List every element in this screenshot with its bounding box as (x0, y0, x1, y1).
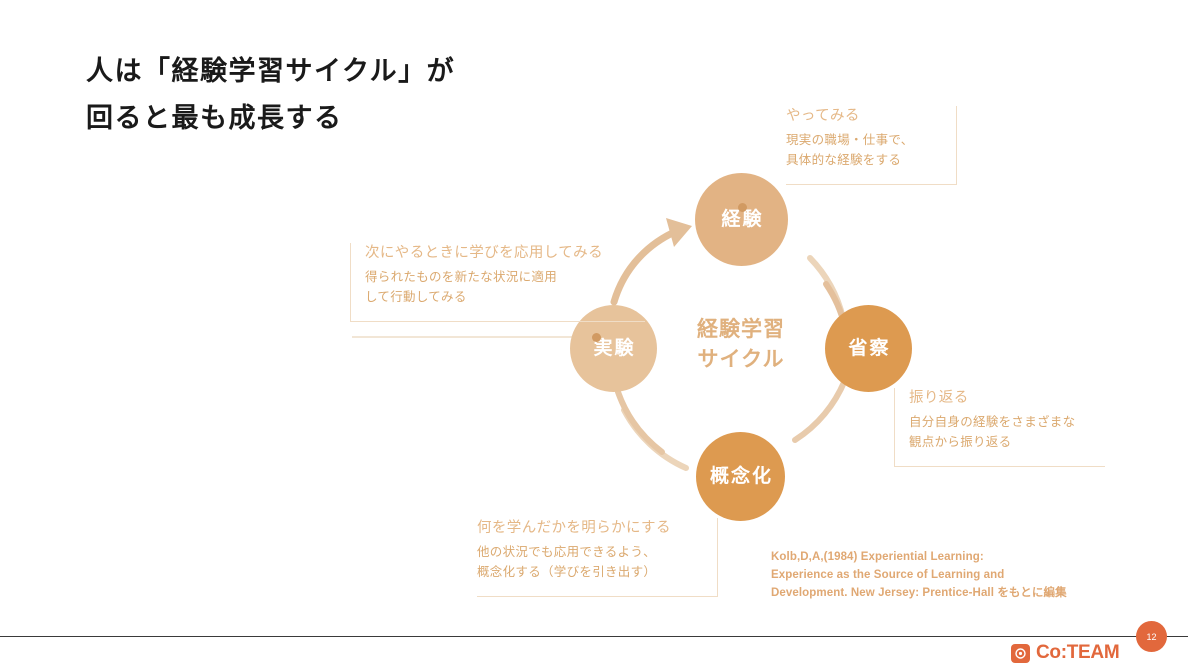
annotation-experience-body: 現実の職場・仕事で、 具体的な経験をする (786, 130, 944, 171)
arc-conceptualization-to-experiment-2 (618, 392, 662, 452)
node-conceptualization-label: 概念化 (708, 467, 773, 486)
annotation-experiment-body-line1: 得られたものを新たな状況に適用 (365, 267, 645, 287)
annotation-reflection-body-line2: 観点から振り返る (909, 432, 1105, 452)
annotation-conceptualization-body: 他の状況でも応用できるよう、 概念化する（学びを引き出す） (477, 542, 705, 583)
node-conceptualization[interactable]: 概念化 (696, 432, 785, 521)
coteam-mark-icon (1011, 644, 1030, 663)
at-spiral-icon (1014, 647, 1027, 660)
footer-divider (0, 636, 1188, 637)
page-number-badge: 12 (1136, 621, 1167, 652)
cycle-center-caption-line1: 経験学習 (678, 315, 804, 345)
node-reflection[interactable]: 省察 (825, 305, 912, 392)
annotation-experiment: 次にやるときに学びを応用してみる 得られたものを新たな状況に適用 して行動してみ… (350, 243, 645, 322)
cycle-center-caption-line2: サイクル (678, 345, 804, 375)
source-citation: Kolb,D,A,(1984) Experiential Learning: E… (771, 549, 1101, 602)
source-citation-line2: Experience as the Source of Learning and (771, 567, 1101, 585)
page-number: 12 (1146, 632, 1156, 642)
annotation-reflection: 振り返る 自分自身の経験をさまざまな 観点から振り返る (894, 388, 1105, 467)
annotation-conceptualization-heading: 何を学んだかを明らかにする (477, 518, 705, 540)
node-reflection-label: 省察 (846, 339, 890, 358)
connector-dot-experience (738, 203, 747, 212)
annotation-conceptualization-body-line2: 概念化する（学びを引き出す） (477, 562, 705, 582)
annotation-experience-body-line2: 具体的な経験をする (786, 150, 944, 170)
annotation-conceptualization-body-line1: 他の状況でも応用できるよう、 (477, 542, 705, 562)
arc-reflection-to-conceptualization (795, 380, 845, 440)
annotation-experience-body-line1: 現実の職場・仕事で、 (786, 130, 944, 150)
slide: 人は「経験学習サイクル」が 回ると最も成長する 経験 省察 (0, 0, 1188, 668)
node-experiment-label: 実験 (591, 339, 635, 358)
experiential-learning-cycle-diagram: 経験 省察 概念化 実験 経験学習 サイクル やってみる 現実の職場・仕事で、 … (0, 0, 1188, 668)
node-experience-label: 経験 (719, 210, 763, 229)
annotation-experience-heading: やってみる (786, 106, 944, 128)
annotation-reflection-body: 自分自身の経験をさまざまな 観点から振り返る (909, 412, 1105, 453)
annotation-experiment-body: 得られたものを新たな状況に適用 して行動してみる (365, 267, 645, 308)
source-citation-line3: Development. New Jersey: Prentice-Hall を… (771, 585, 1101, 603)
annotation-experiment-heading: 次にやるときに学びを応用してみる (365, 243, 645, 265)
annotation-experiment-body-line2: して行動してみる (365, 287, 645, 307)
brand-logo: Co:TEAM (1011, 642, 1119, 664)
annotation-reflection-heading: 振り返る (909, 388, 1105, 410)
annotation-reflection-body-line1: 自分自身の経験をさまざまな (909, 412, 1105, 432)
cycle-center-caption: 経験学習 サイクル (678, 315, 804, 376)
node-experience[interactable]: 経験 (695, 173, 788, 266)
brand-name: Co:TEAM (1036, 642, 1119, 664)
annotation-conceptualization: 何を学んだかを明らかにする 他の状況でも応用できるよう、 概念化する（学びを引き… (477, 518, 718, 597)
annotation-experience: やってみる 現実の職場・仕事で、 具体的な経験をする (786, 106, 957, 185)
connector-dot-experiment (592, 333, 601, 342)
source-citation-line1: Kolb,D,A,(1984) Experiential Learning: (771, 549, 1101, 567)
